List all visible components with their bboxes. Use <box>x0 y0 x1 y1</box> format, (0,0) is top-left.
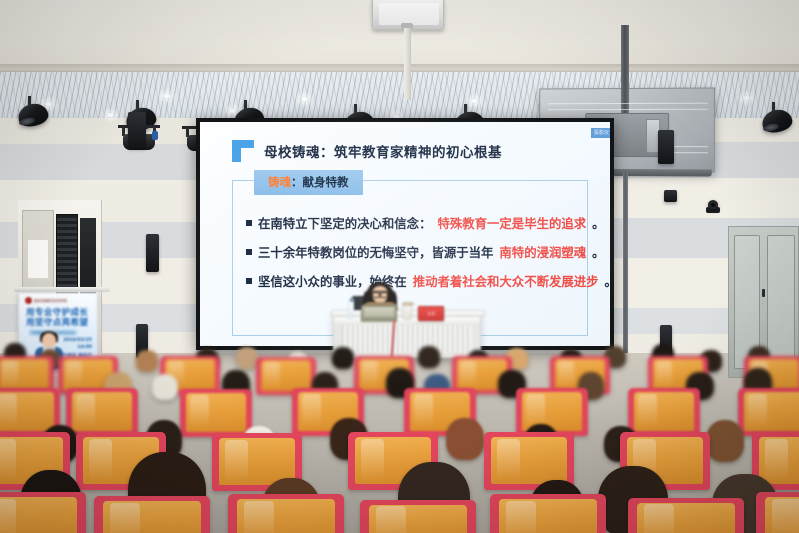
projector-mount-pole <box>404 28 411 100</box>
wall-speaker <box>146 234 159 272</box>
downlight-icon <box>470 98 479 104</box>
tv-floor-stand <box>623 173 628 353</box>
attendee-head <box>418 346 440 368</box>
downlight-icon <box>742 95 751 101</box>
auditorium-seat <box>756 492 799 533</box>
poster-logo-text: 南京特殊教育师范学院 <box>34 298 67 303</box>
red-nameplate: 主讲 <box>418 306 444 321</box>
ptz-camera-icon <box>706 200 720 213</box>
attendee-head <box>236 347 258 369</box>
attendee-head <box>136 350 158 372</box>
bullet-plain-2b: 。 <box>592 243 604 261</box>
wall-indicator-box <box>664 190 677 202</box>
poster-date-value: 2024/03/25 <box>63 337 92 344</box>
poster-headline-line2: 用坚守点亮希望 <box>26 318 88 328</box>
slide-bullet-item: 三十余年特教岗位的无悔坚守，皆源于当年南特的浸润塑魂。 <box>246 243 580 261</box>
auditorium-seat <box>360 500 476 533</box>
paper-cup <box>402 304 412 320</box>
ceiling-projector <box>372 0 444 30</box>
poster-logo-row: 南京特殊教育师范学院 <box>25 297 67 304</box>
badge-highlight-text: 铸魂 <box>268 175 291 189</box>
bullet-plain-1: 在南特立下坚定的决心和信念： <box>258 214 431 232</box>
auditorium-seat <box>628 388 700 436</box>
bullet-square-icon <box>246 278 252 284</box>
bullet-square-icon <box>246 220 252 226</box>
wall-speaker <box>128 112 146 148</box>
poster-headline: 用专业守护成长 用坚守点亮希望 <box>26 308 88 328</box>
poster-time-value: 14:00 <box>63 344 92 351</box>
poster-date: 2024/03/25 14:00 <box>63 337 92 351</box>
attendee-head <box>446 418 484 460</box>
bullet-red-3: 推动者着社会和大众不断发展进步 <box>413 272 599 290</box>
auditorium-seat <box>66 388 138 436</box>
auditorium-seat <box>490 494 606 533</box>
auditorium-seat <box>628 498 744 533</box>
lecture-hall-screenshot: 母校铸魂：筑牢教育家精神的初心根基 铸魂：献身特教 在南特立下坚定的决心和信念：… <box>0 0 799 533</box>
slide-bullet-item: 坚信这小众的事业，始终在推动者着社会和大众不断发展进步。 <box>246 272 580 290</box>
door-handle-icon[interactable] <box>762 289 765 297</box>
auditorium-seat <box>0 492 86 533</box>
attendee-head <box>706 420 744 462</box>
badge-rest-text: ：献身特教 <box>291 175 349 189</box>
glasses-icon <box>372 291 388 295</box>
bullet-square-icon <box>246 249 252 255</box>
door-notice-sheet <box>27 239 49 279</box>
title-marker-icon <box>232 140 254 162</box>
slide-bullet-list: 在南特立下坚定的决心和信念：特殊教育一定是毕生的追求。 三十余年特教岗位的无悔坚… <box>246 214 580 290</box>
university-seal-icon <box>25 297 32 304</box>
bullet-plain-3b: 。 <box>605 272 610 290</box>
bullet-plain-2: 三十余年特教岗位的无悔坚守，皆源于当年 <box>258 243 493 261</box>
stage-light-icon <box>16 100 50 130</box>
tv-mount-pole <box>621 25 629 113</box>
auditorium-seat <box>180 389 252 437</box>
bullet-plain-1b: 。 <box>592 214 604 232</box>
downlight-icon <box>300 96 309 102</box>
nameplate-text: 主讲 <box>419 311 443 317</box>
slide-section-badge: 铸魂：献身特教 <box>254 170 363 195</box>
podium-grille <box>342 325 472 353</box>
bullet-red-1: 特殊教育一定是毕生的追求 <box>437 214 586 232</box>
auditorium-seat <box>738 388 799 436</box>
auditorium-seat <box>94 496 210 533</box>
auditorium-seat <box>228 494 344 533</box>
slide-bullet-item: 在南特立下坚定的决心和信念：特殊教育一定是毕生的追求。 <box>246 214 580 232</box>
bullet-red-2: 南特的浸润塑魂 <box>499 243 586 261</box>
attendee-head <box>152 374 178 400</box>
poster-headline-line1: 用专业守护成长 <box>26 308 88 318</box>
stage-light-icon <box>760 106 794 136</box>
water-bottle <box>348 300 354 319</box>
attendee-head <box>332 347 354 369</box>
downlight-icon <box>162 93 171 99</box>
downlight-icon <box>106 112 115 118</box>
slide-title: 母校铸魂：筑牢教育家精神的初心根基 <box>264 141 502 161</box>
slide-title-row: 母校铸魂：筑牢教育家精神的初心根基 <box>232 140 502 162</box>
projector-body <box>379 3 439 25</box>
projector-corner-sign: 投影仪 <box>591 128 610 138</box>
wall-speaker <box>658 130 674 164</box>
laptop <box>361 305 397 321</box>
